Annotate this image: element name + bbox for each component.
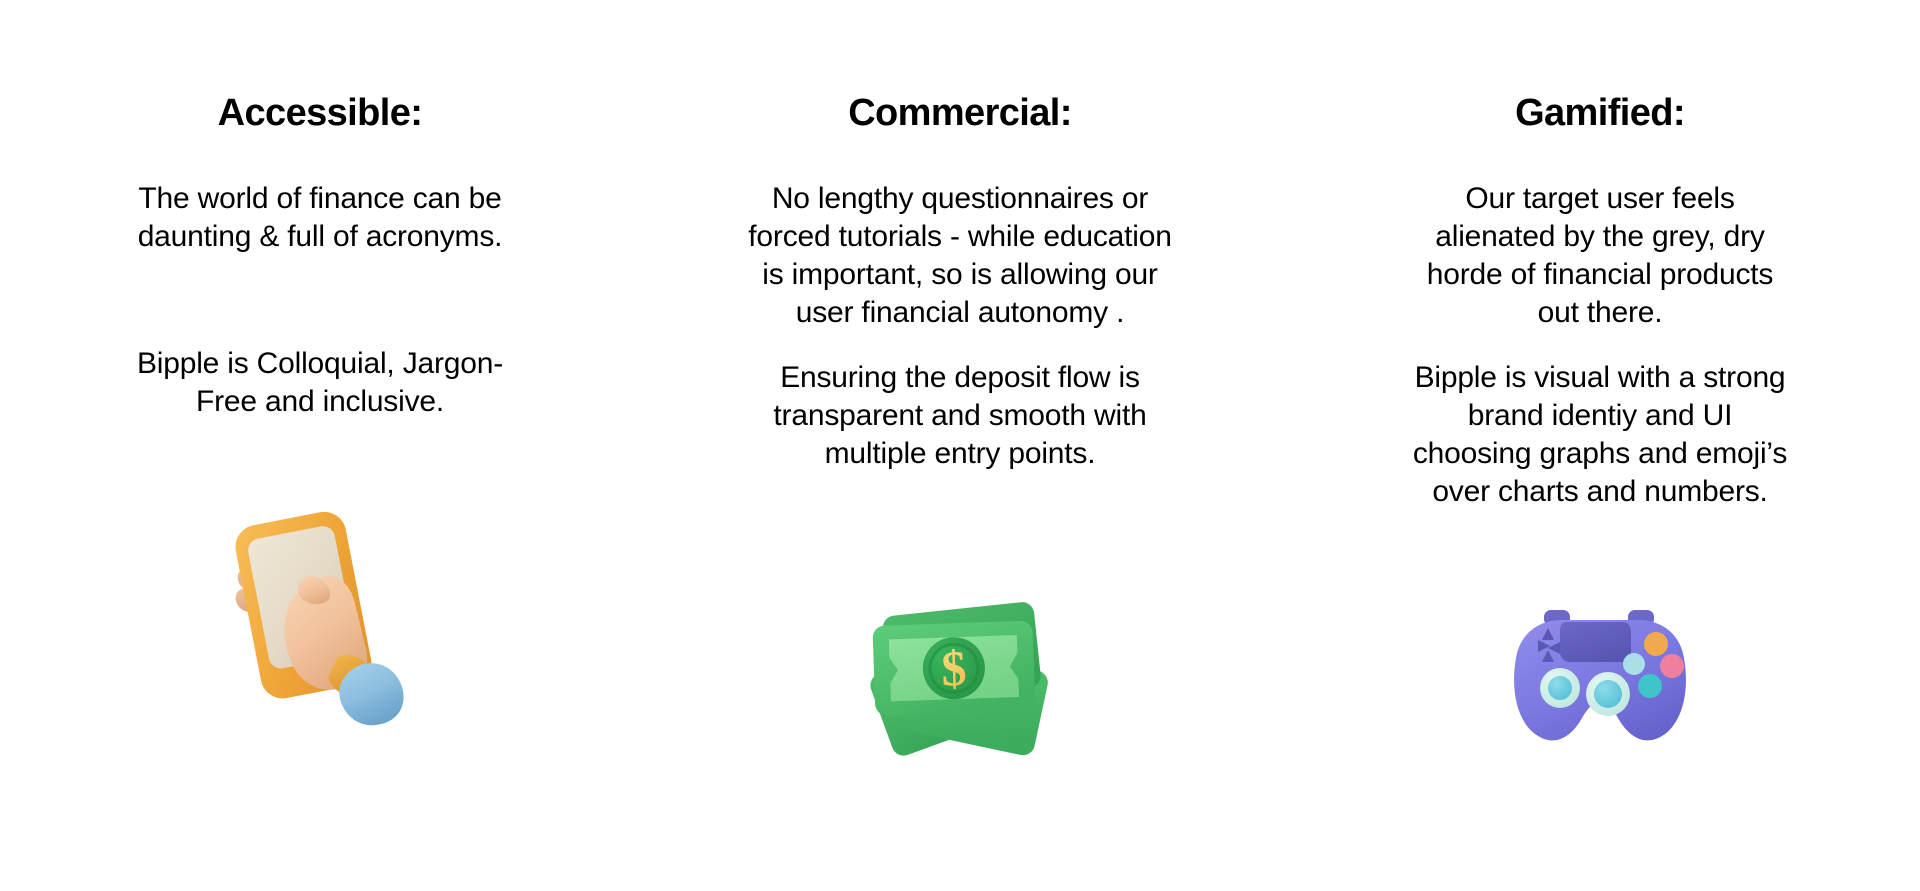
column-commercial: Commercial: No lengthy questionnaires or… (640, 0, 1280, 891)
hand-holding-phone-icon (220, 507, 420, 727)
column-paragraph-accessible-1: The world of finance can be daunting & f… (110, 180, 530, 256)
illustration-accessible (0, 507, 640, 727)
three-column-principles-board: Accessible: The world of finance can be … (0, 0, 1920, 891)
button-orange-icon (1644, 632, 1668, 656)
column-accessible: Accessible: The world of finance can be … (0, 0, 640, 891)
game-controller-icon (1500, 600, 1700, 760)
illustration-gamified (1280, 600, 1920, 760)
button-lightblue-icon (1623, 653, 1645, 675)
dollar-sign-glyph: $ (940, 640, 967, 697)
column-paragraph-gamified-1: Our target user feels alienated by the g… (1413, 180, 1788, 332)
money-banknotes-icon: $ (860, 593, 1060, 773)
column-paragraph-accessible-2: Bipple is Colloquial, Jargon-Free and in… (110, 345, 530, 421)
button-teal-icon (1638, 674, 1662, 698)
illustration-commercial: $ (640, 593, 1280, 773)
column-heading-accessible: Accessible: (218, 94, 423, 134)
column-heading-gamified: Gamified: (1515, 94, 1685, 134)
column-paragraph-commercial-2: Ensuring the deposit flow is transparent… (745, 359, 1175, 473)
column-gamified: Gamified: Our target user feels alienate… (1280, 0, 1920, 891)
button-pink-icon (1660, 654, 1684, 678)
column-heading-commercial: Commercial: (848, 94, 1072, 134)
column-paragraph-commercial-1: No lengthy questionnaires or forced tuto… (745, 180, 1175, 332)
column-paragraph-gamified-2: Bipple is visual with a strong brand ide… (1413, 359, 1788, 511)
